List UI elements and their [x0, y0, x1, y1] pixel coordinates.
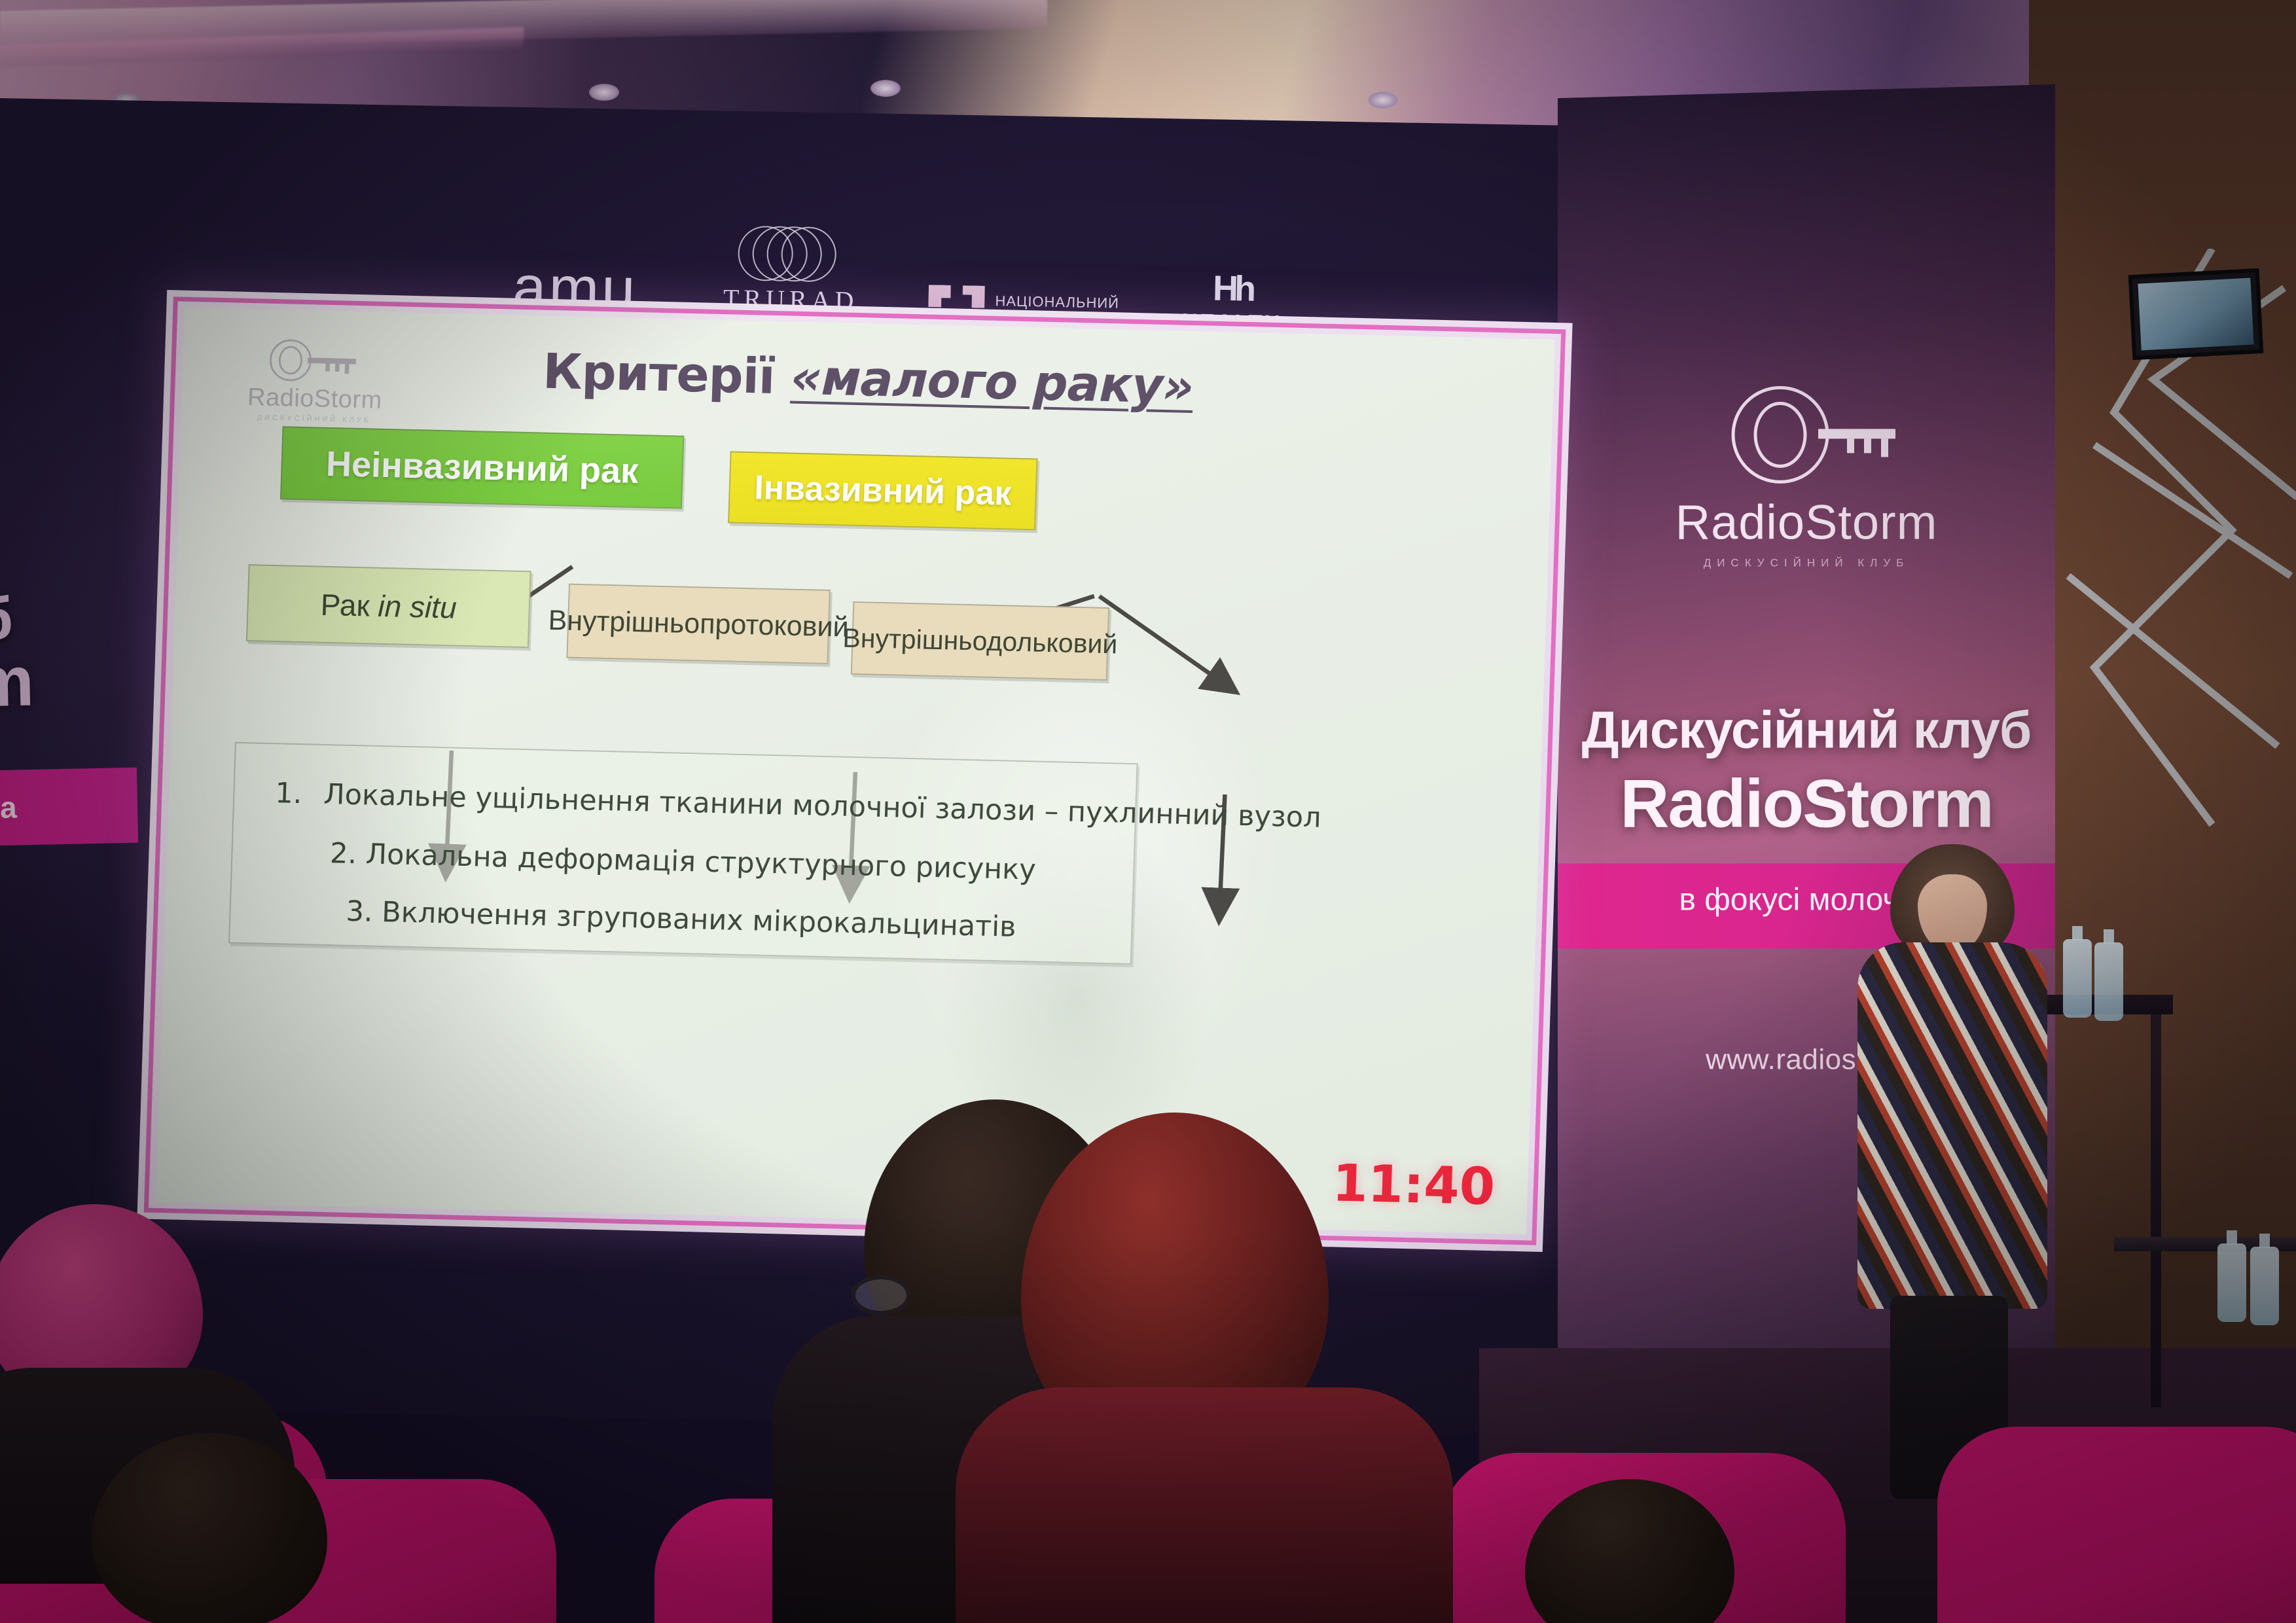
left-banner-line2: rm [0, 645, 154, 717]
in-situ-italic: in situ [378, 589, 457, 625]
radiostorm-logo-subtitle: ДИСКУСІЙНИЙ КЛУБ [1558, 556, 2055, 569]
criteria-number-3: 3. [346, 895, 374, 929]
criteria-number-1: 1. [275, 777, 325, 811]
ceiling-spot-light [870, 80, 901, 97]
box-cancer-in-situ: Рак in situ [246, 564, 531, 648]
banner-line-radiostorm: RadioStorm [1558, 765, 2055, 843]
conference-photo: уб rm а amu Асоціація мамологів України … [0, 0, 2296, 1623]
left-banner-pink-text: а [0, 787, 118, 825]
audience-foreground [0, 1099, 2296, 1623]
slide-title-quoted: «малого раку» [790, 349, 1194, 415]
criteria-number-2: 2. [329, 837, 357, 870]
watermark-subtitle: ДИСКУСІЙНИЙ КЛУБ [232, 413, 396, 425]
criteria-item-1: 1.Локальне ущільнення тканини молочної з… [275, 777, 1322, 834]
ceiling-spot-light [1368, 92, 1398, 109]
audience-chair [1937, 1427, 2296, 1623]
stage-monitor [2128, 268, 2264, 360]
radiostorm-logo-name: RadioStorm [1558, 494, 2055, 550]
water-bottle [2063, 939, 2092, 1018]
criteria-text-2: Локальна деформація структурного рисунку [365, 838, 1036, 886]
health-hub-logo-mark: Hh [1182, 268, 1283, 310]
key-circle-icon [1558, 379, 2055, 490]
presentation-slide: RadioStorm ДИСКУСІЙНИЙ КЛУБ Критерії «ма… [156, 308, 1555, 1235]
nci-logo-line1: НАЦІОНАЛЬНИЙ [995, 293, 1119, 312]
box-intralobular: Внутрішньодольковий [851, 601, 1110, 681]
in-situ-prefix: Рак [320, 588, 378, 623]
criteria-panel: 1.Локальне ущільнення тканини молочної з… [228, 742, 1138, 965]
criteria-text-1: Локальне ущільнення тканини молочної зал… [323, 778, 1322, 834]
criteria-item-2: 2. Локальна деформація структурного рису… [232, 835, 1134, 889]
audience-shoulders [956, 1387, 1453, 1623]
monitor-screen [2138, 278, 2253, 351]
left-banner-line1: уб [0, 587, 153, 649]
water-bottle [2094, 942, 2123, 1021]
box-noninvasive-cancer: Неінвазивний рак [280, 426, 684, 508]
radiostorm-logo: RadioStorm ДИСКУСІЙНИЙ КЛУБ [1558, 379, 2055, 569]
ceiling-spot-light [589, 84, 619, 101]
banner-line-discussion-club: Дискусійний клуб [1558, 700, 2055, 760]
criteria-text-3: Включення згрупованих мікрокальцинатів [382, 896, 1017, 944]
criteria-item-3: 3. Включення згрупованих мікрокальцинаті… [230, 893, 1132, 946]
slide-title-plain: Критерії [542, 344, 792, 406]
trurad-logo-rings-icon [716, 220, 855, 283]
box-invasive-cancer: Інвазивний рак [728, 451, 1037, 530]
box-intraductal: Внутрішньопротоковий [566, 584, 831, 664]
eyeglasses [851, 1275, 911, 1315]
left-banner-text: уб rm [0, 587, 154, 717]
